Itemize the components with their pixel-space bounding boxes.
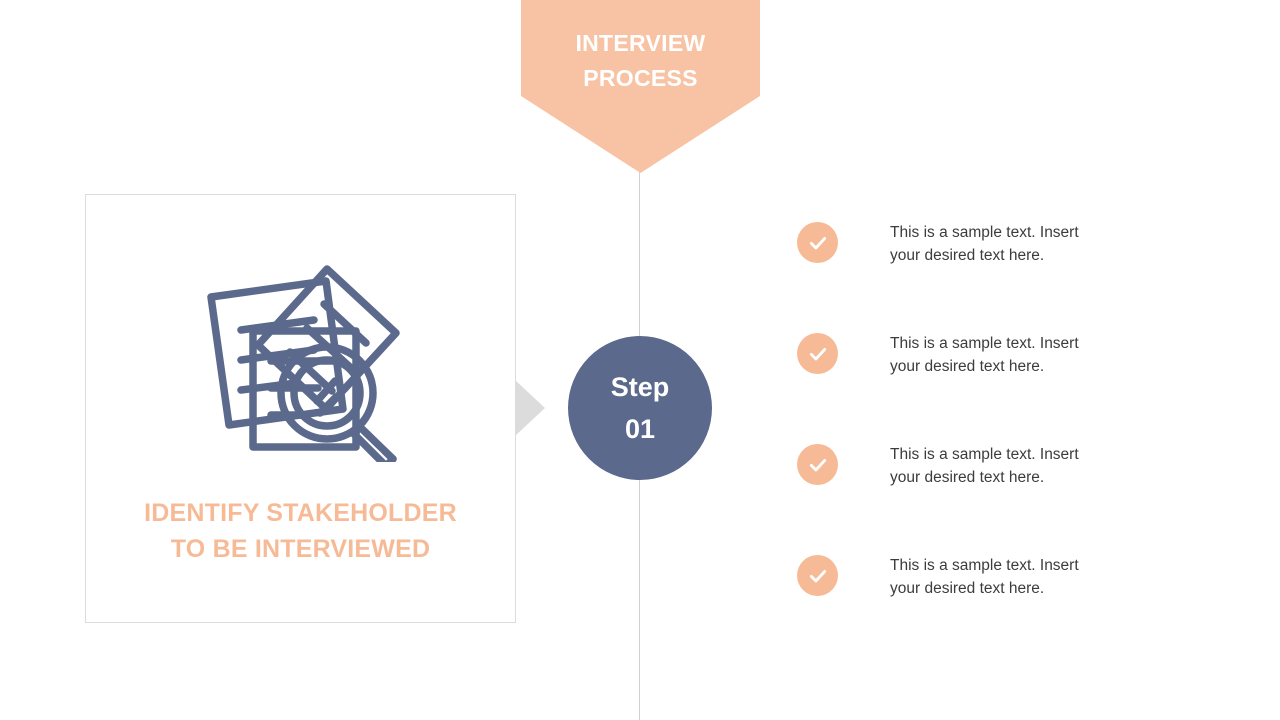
check-icon xyxy=(808,455,828,475)
bullet-list: This is a sample text. Insert your desir… xyxy=(797,222,1157,666)
check-icon xyxy=(808,344,828,364)
card-title: IDENTIFY STAKEHOLDER TO BE INTERVIEWED xyxy=(106,495,495,567)
triangle-right-icon xyxy=(515,380,545,436)
check-icon xyxy=(808,233,828,253)
list-item[interactable]: This is a sample text. Insert your desir… xyxy=(797,333,1157,444)
list-item[interactable]: This is a sample text. Insert your desir… xyxy=(797,555,1157,666)
banner-title: INTERVIEW PROCESS xyxy=(521,26,760,96)
slide-canvas: INTERVIEW PROCESS xyxy=(0,0,1280,720)
list-item[interactable]: This is a sample text. Insert your desir… xyxy=(797,444,1157,555)
interview-process-banner[interactable]: INTERVIEW PROCESS xyxy=(521,0,760,173)
check-badge xyxy=(797,222,838,263)
list-item[interactable]: This is a sample text. Insert your desir… xyxy=(797,222,1157,333)
documents-magnifier-icon xyxy=(196,257,406,462)
list-item-text: This is a sample text. Insert your desir… xyxy=(890,332,1130,378)
list-item-text: This is a sample text. Insert your desir… xyxy=(890,221,1130,267)
check-badge xyxy=(797,333,838,374)
check-badge xyxy=(797,555,838,596)
list-item-text: This is a sample text. Insert your desir… xyxy=(890,443,1130,489)
step-circle[interactable]: Step 01 xyxy=(568,336,712,480)
step-label: Step 01 xyxy=(611,366,670,450)
check-icon xyxy=(808,566,828,586)
check-badge xyxy=(797,444,838,485)
list-item-text: This is a sample text. Insert your desir… xyxy=(890,554,1130,600)
stakeholder-card[interactable]: IDENTIFY STAKEHOLDER TO BE INTERVIEWED xyxy=(85,194,516,623)
